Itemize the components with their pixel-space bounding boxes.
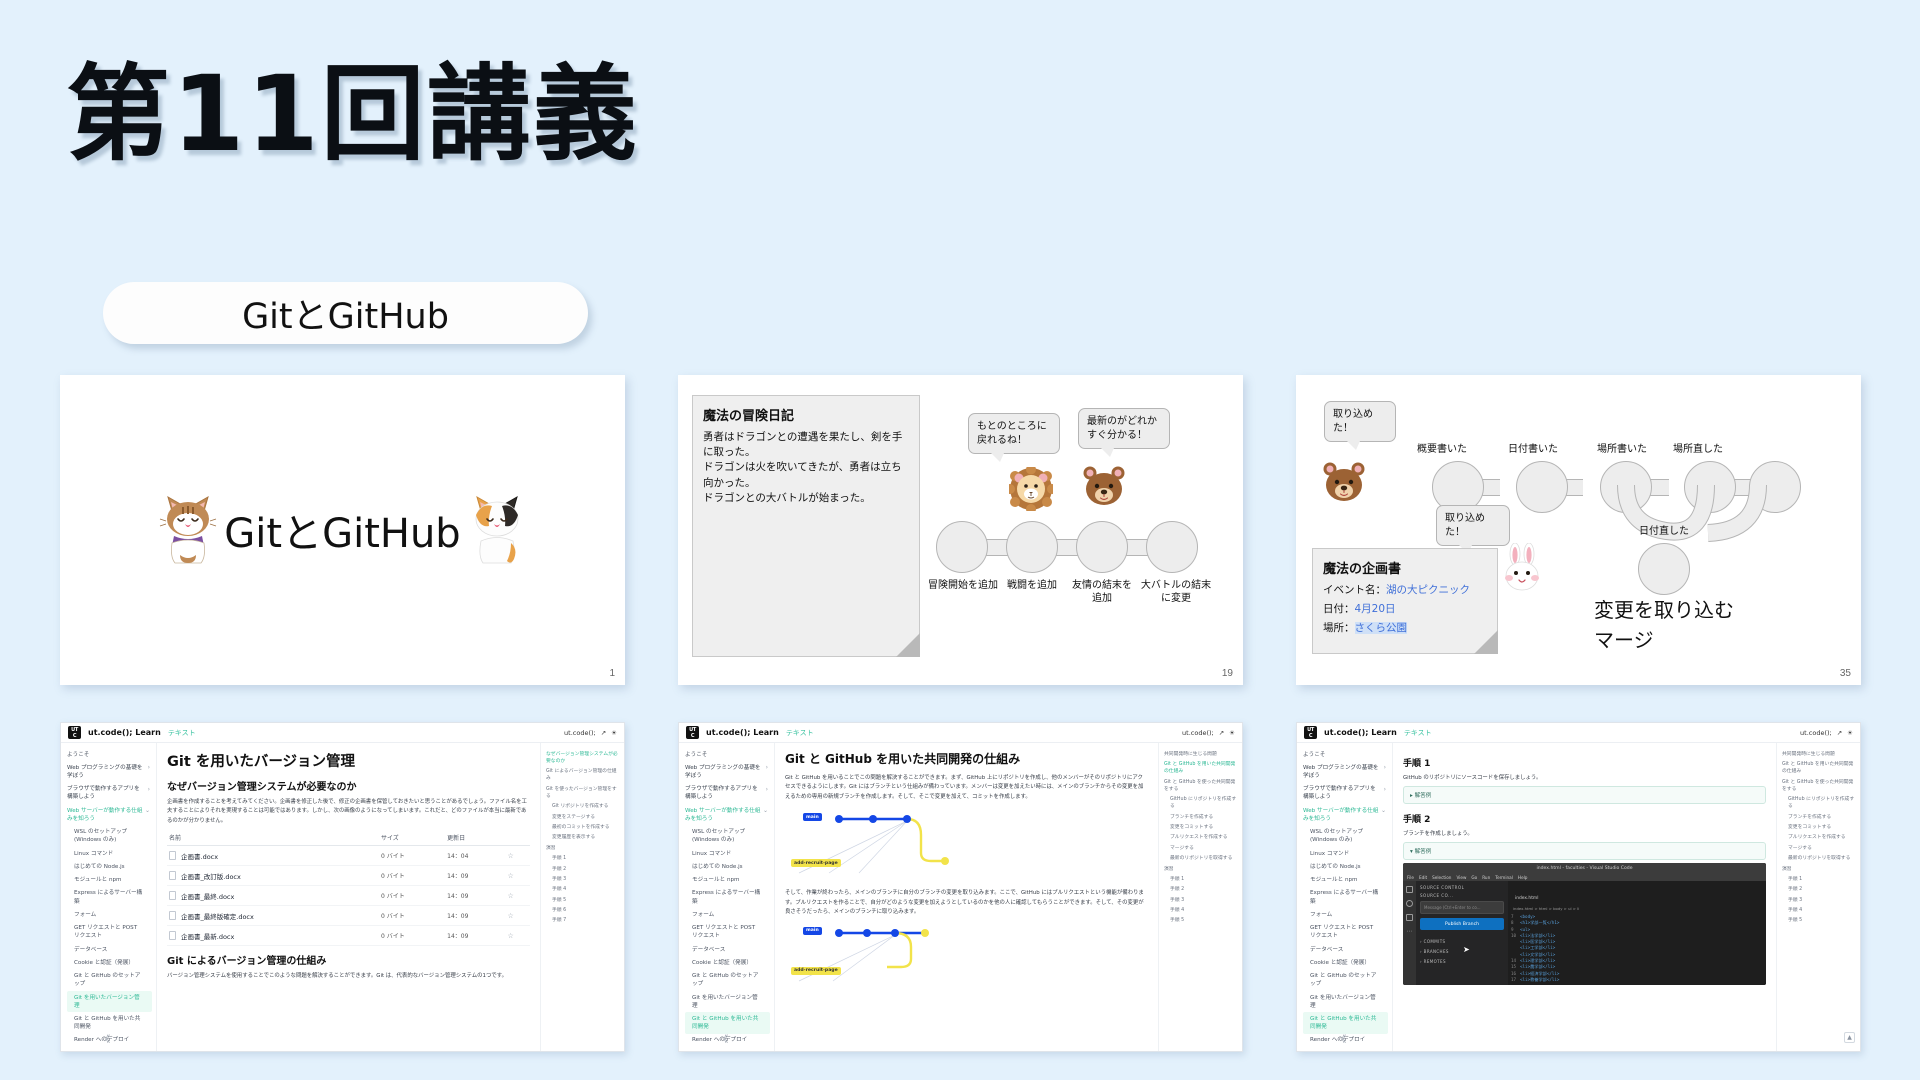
sidebar-item[interactable]: データベース xyxy=(67,943,152,956)
sidebar-item[interactable]: データベース xyxy=(685,943,770,956)
merge-title-line2: マージ xyxy=(1594,627,1654,653)
toc-item[interactable]: 共同開発時に生じる問題 xyxy=(1782,749,1855,759)
sidebar-item[interactable]: GET リクエストと POST リクエスト xyxy=(67,922,152,943)
cell-name: 企画書_最新.docx xyxy=(167,926,379,946)
section-heading-2: Git によるバージョン管理の仕組み xyxy=(167,952,530,967)
cell-star[interactable]: ☆ xyxy=(505,906,530,926)
toc-item[interactable]: 手順 7 xyxy=(546,916,619,926)
speech-bubble-1: 取り込めた！ xyxy=(1324,401,1396,442)
speech-bubble-2: 最新のがどれかすぐ分かる！ xyxy=(1078,408,1170,449)
note-line-2-value: 4月20日 xyxy=(1355,603,1396,615)
toc-item[interactable]: 手順 5 xyxy=(546,895,619,905)
chevron-right-icon[interactable]: › xyxy=(1384,786,1386,795)
site-brand: ut.code(); Learn xyxy=(706,728,779,737)
sidebar-item[interactable]: モジュールと npm xyxy=(685,874,770,887)
commit-node xyxy=(1516,461,1568,513)
note-title: 魔法の冒険日記 xyxy=(693,396,919,428)
toc-item[interactable]: 手順 2 xyxy=(546,864,619,874)
mouse-cursor-icon: ➤ xyxy=(1463,945,1470,954)
header-right: ut.code(); ↗ ☀ xyxy=(564,729,617,737)
vscode-screenshot: index.html - faculties - Visual Studio C… xyxy=(1403,863,1766,985)
note-line-3-label: 場所： xyxy=(1323,622,1355,634)
toc-item[interactable]: 手順 1 xyxy=(546,854,619,864)
sidebar-item[interactable]: Cookie と認証（発展） xyxy=(1303,956,1388,969)
toc-item[interactable]: GitHub にリポジトリを作成する xyxy=(1782,795,1855,813)
topic-pill: GitとGitHub xyxy=(103,282,588,344)
menu-item[interactable]: Help xyxy=(1518,875,1528,880)
accordion-label: 解答例 xyxy=(1415,849,1432,855)
sidebar-item[interactable]: はじめての Node.js xyxy=(685,860,770,873)
git-graph-2: main add-recruit-page xyxy=(785,923,1148,985)
slide-number: 1 xyxy=(609,668,615,679)
chevron-down-icon[interactable]: ⌄ xyxy=(145,807,150,816)
section-heading-1: なぜバージョン管理システムが必要なのか xyxy=(167,778,530,793)
rabbit-icon xyxy=(1500,543,1544,587)
note-line-2-label: 日付： xyxy=(1323,603,1355,615)
collapse-chevrons-icon[interactable]: 《 xyxy=(101,1032,110,1045)
file-icon xyxy=(169,931,176,940)
commit-label: 場所書いた xyxy=(1590,443,1654,456)
sidebar-item[interactable]: フォーム xyxy=(1303,908,1388,921)
toc-item[interactable]: 演習 xyxy=(1782,864,1855,874)
sidebar-item[interactable]: Linux コマンド xyxy=(685,847,770,860)
note-line-1: イベント名：湖の大ピクニック xyxy=(1313,581,1497,600)
cell-star[interactable]: ☆ xyxy=(505,926,530,946)
sidebar-item[interactable]: データベース xyxy=(1303,943,1388,956)
section-paragraph-2: バージョン管理システムを使用することでこのような問題を解決することができます。G… xyxy=(167,972,530,981)
files-icon[interactable] xyxy=(1406,886,1413,893)
toc-item[interactable]: 手順 3 xyxy=(546,874,619,884)
toc-item[interactable]: Git と GitHub を用いた共同開発の仕組み xyxy=(1164,759,1237,777)
shot3-body: ようこそWeb プログラミングの基礎を学ぼう›ブラウザで動作するアプリを構築しよ… xyxy=(1297,743,1860,1051)
speech-bubble-1: もとのところに戻れるね！ xyxy=(968,413,1060,454)
sidebar-item[interactable]: Web プログラミングの基礎を学ぼう› xyxy=(1303,761,1388,782)
slide-number: 19 xyxy=(1222,668,1233,679)
docs-sidebar[interactable]: ようこそWeb プログラミングの基礎を学ぼう›ブラウザで動作するアプリを構築しよ… xyxy=(679,743,775,1051)
step-1-title: 手順 1 xyxy=(1403,756,1766,769)
sidebar-item[interactable]: フォーム xyxy=(67,908,152,921)
header-right: ut.code(); ↗ ☀ xyxy=(1800,729,1853,737)
commit-node xyxy=(936,521,988,573)
docs-sidebar[interactable]: ようこそWeb プログラミングの基礎を学ぼう›ブラウザで動作するアプリを構築しよ… xyxy=(1297,743,1393,1051)
section-paragraph-1: 企画書を作成することを考えてみてください。企画書を修正した後で、修正の企画書を保… xyxy=(167,798,530,826)
menu-item[interactable]: Terminal xyxy=(1495,875,1513,880)
toc-list: 共同開発時に生じる問題Git と GitHub を用いた共同開発の仕組みGit … xyxy=(1782,749,1855,926)
vscode-sections: › COMMITS› BRANCHES› REMOTES xyxy=(1420,936,1504,966)
presentation-overview: 第11回講義 GitとGitHub xyxy=(0,0,1920,1080)
toc-list: 共同開発時に生じる問題Git と GitHub を用いた共同開発の仕組みGit … xyxy=(1164,749,1237,926)
file-icon xyxy=(169,871,176,880)
speech-bubble-2: 取り込めた！ xyxy=(1436,505,1510,546)
chevron-right-icon[interactable]: › xyxy=(148,764,150,773)
cat-tabby-icon xyxy=(158,493,218,567)
cell-size: 0 バイト xyxy=(379,846,445,866)
sidebar-item[interactable]: Web プログラミングの基礎を学ぼう› xyxy=(67,761,152,782)
commit-label: 場所直した xyxy=(1666,443,1730,456)
note-title: 魔法の企画書 xyxy=(1313,549,1497,581)
star-icon[interactable]: ☆ xyxy=(507,892,513,900)
step-2-title: 手順 2 xyxy=(1403,812,1766,825)
toc-item[interactable]: Git によるバージョン管理の仕組み xyxy=(546,767,619,785)
cell-date: 14：09 xyxy=(445,926,505,946)
chevron-right-icon[interactable]: › xyxy=(148,786,150,795)
toc-item[interactable]: Git と GitHub を使った共同開発をする xyxy=(1164,777,1237,795)
note-line-1-value: 湖の大ピクニック xyxy=(1386,584,1470,596)
toc-item[interactable]: 手順 2 xyxy=(1164,885,1237,895)
toc-item[interactable]: 手順 5 xyxy=(1164,916,1237,926)
repo-label[interactable]: SOURCE CO... xyxy=(1420,893,1504,898)
sidebar-item[interactable]: Git と GitHub のセットアップ xyxy=(685,970,770,991)
bear-icon xyxy=(1082,465,1126,509)
docs-main: Git と GitHub を用いた共同開発の仕組み Git と GitHub を… xyxy=(775,743,1158,1051)
site-brand-right: ut.code(); xyxy=(1182,729,1214,737)
toc-item[interactable]: 手順 2 xyxy=(1782,885,1855,895)
browser-screenshot-1[interactable]: UTC ut.code(); Learn テキスト ut.code(); ↗ ☀… xyxy=(60,722,625,1052)
toc-item[interactable]: Git と GitHub を用いた共同開発の仕組み xyxy=(1782,759,1855,777)
toc-item[interactable]: プルリクエストを作成する xyxy=(1782,833,1855,843)
branch-label-main: main xyxy=(803,813,822,821)
answer-accordion-2[interactable]: ▾ 解答例 xyxy=(1403,842,1766,860)
vscode-source-control-panel: SOURCE CONTROL SOURCE CO... Message (Ctr… xyxy=(1416,881,1508,985)
col-date: 更新日 xyxy=(445,830,505,846)
note-line-2: 日付：4月20日 xyxy=(1313,600,1497,619)
cell-date: 14：09 xyxy=(445,906,505,926)
external-link-icon[interactable]: ↗ xyxy=(1219,729,1224,737)
cell-star[interactable]: ☆ xyxy=(505,846,530,866)
commit-node xyxy=(1006,521,1058,573)
source-control-icon[interactable] xyxy=(1406,914,1413,921)
toc-list: なぜバージョン管理システムが必要なのかGit によるバージョン管理の仕組みGit… xyxy=(546,749,619,926)
source-control-section[interactable]: › REMOTES xyxy=(1420,956,1504,966)
slide-number: 35 xyxy=(1840,668,1851,679)
editor-code: 7<body>8<h1>学部一覧</h1>9<ul>10<li>法学部</li>… xyxy=(1511,914,1763,983)
sidebar-item[interactable]: ようこそ xyxy=(1303,748,1388,761)
branch-label-main-2: main xyxy=(803,927,822,935)
toc-item[interactable]: 手順 1 xyxy=(1164,874,1237,884)
slide-thumbnail-19[interactable]: 魔法の冒険日記 勇者はドラゴンとの遭遇を果たし、剣を手に取った。 ドラゴンは火を… xyxy=(678,375,1243,685)
site-brand: ut.code(); Learn xyxy=(1324,728,1397,737)
code-line: 17<li>教養学部</li> xyxy=(1511,977,1763,983)
sun-icon[interactable]: ☀ xyxy=(1229,729,1235,737)
commit-message-input[interactable]: Message (Ctrl+Enter to co... xyxy=(1420,901,1504,914)
sidebar-item[interactable]: WSL のセットアップ (Windows のみ) xyxy=(1303,826,1388,847)
star-icon[interactable]: ☆ xyxy=(507,872,513,880)
chevron-down-icon[interactable]: ⌄ xyxy=(763,807,768,816)
page-fold-corner xyxy=(896,633,920,657)
toc-item[interactable]: 手順 1 xyxy=(1782,874,1855,884)
toc-item[interactable]: 共同開発時に生じる問題 xyxy=(1164,749,1237,759)
toc-item[interactable]: 変更をステージする xyxy=(546,812,619,822)
sidebar-item[interactable]: Web サーバーが動作する仕組みを知ろう⌄ xyxy=(67,804,152,825)
docs-sidebar[interactable]: ようこそWeb プログラミングの基礎を学ぼう›ブラウザで動作するアプリを構築しよ… xyxy=(61,743,157,1051)
commit-label: 日付書いた xyxy=(1501,443,1565,456)
page-fold-corner xyxy=(1474,630,1498,654)
cell-size: 0 バイト xyxy=(379,906,445,926)
menu-item[interactable]: Selection xyxy=(1432,875,1451,880)
sidebar-item[interactable]: GET リクエストと POST リクエスト xyxy=(685,922,770,943)
table-row[interactable]: 企画書_最新.docx0 バイト14：09☆ xyxy=(167,926,530,946)
table-row[interactable]: 企画書_最終.docx0 バイト14：09☆ xyxy=(167,886,530,906)
toc-item[interactable]: 変更をコミットする xyxy=(1164,822,1237,832)
toc-item[interactable]: Git を使ったバージョン管理をする xyxy=(546,784,619,802)
shot1-body: ようこそWeb プログラミングの基礎を学ぼう›ブラウザで動作するアプリを構築しよ… xyxy=(61,743,624,1051)
sidebar-item[interactable]: Web サーバーが動作する仕組みを知ろう⌄ xyxy=(685,804,770,825)
utcode-logo-icon: UTC xyxy=(68,726,81,739)
sidebar-item[interactable]: Git と GitHub のセットアップ xyxy=(67,970,152,991)
cell-name: 企画書_最終版確定.docx xyxy=(167,906,379,926)
sidebar-item[interactable]: Express によるサーバー構築 xyxy=(685,887,770,908)
star-icon[interactable]: ☆ xyxy=(507,932,513,940)
collapse-chevrons-icon[interactable]: 《 xyxy=(719,1032,728,1045)
sidebar-item[interactable]: Express によるサーバー構築 xyxy=(1303,887,1388,908)
bear-icon xyxy=(1322,461,1366,505)
section-paragraph-2: そして、作業が終わったら、メインのブランチに自分のブランチの変更を取り込みます。… xyxy=(785,889,1148,917)
chevron-right-icon: ▸ xyxy=(1410,793,1413,799)
sidebar-item[interactable]: Git と GitHub を用いた共同開発 xyxy=(1303,1012,1388,1033)
cell-size: 0 バイト xyxy=(379,926,445,946)
toc-item[interactable]: 演習 xyxy=(1164,864,1237,874)
toc-item[interactable]: 最新のリポジトリを取得する xyxy=(1164,854,1237,864)
chevron-down-icon: ▾ xyxy=(1410,849,1413,855)
slide1-title: GitとGitHub xyxy=(224,501,460,559)
editor-tab[interactable]: index.html xyxy=(1511,894,1542,903)
article-title: Git と GitHub を用いた共同開発の仕組み xyxy=(785,750,1148,767)
toc-item[interactable]: なぜバージョン管理システムが必要なのか xyxy=(546,749,619,767)
cell-date: 14：04 xyxy=(445,846,505,866)
sidebar-list: ようこそWeb プログラミングの基礎を学ぼう›ブラウザで動作するアプリを構築しよ… xyxy=(1303,748,1388,1047)
file-rows: 企画書.docx0 バイト14：04☆企画書_改訂版.docx0 バイト14：0… xyxy=(167,846,530,946)
source-control-section[interactable]: › COMMITS xyxy=(1420,936,1504,946)
header-right: ut.code(); ↗ ☀ xyxy=(1182,729,1235,737)
site-brand: ut.code(); Learn xyxy=(88,728,161,737)
merge-title-line1: 変更を取り込む xyxy=(1594,597,1734,623)
nav-text-link[interactable]: テキスト xyxy=(1404,728,1432,738)
vscode-window-title: index.html - faculties - Visual Studio C… xyxy=(1403,863,1766,873)
toc-item[interactable]: ブランチを作成する xyxy=(1164,812,1237,822)
cell-star[interactable]: ☆ xyxy=(505,886,530,906)
site-brand-right: ut.code(); xyxy=(564,729,596,737)
article-title: Git を用いたバージョン管理 xyxy=(167,750,530,771)
external-link-icon[interactable]: ↗ xyxy=(1837,729,1842,737)
table-of-contents[interactable]: 共同開発時に生じる問題Git と GitHub を用いた共同開発の仕組みGit … xyxy=(1776,743,1860,1051)
topic-pill-label: GitとGitHub xyxy=(242,288,449,339)
toc-item[interactable]: Git と GitHub を使った共同開発をする xyxy=(1782,777,1855,795)
sidebar-item[interactable]: Cookie と認証（発展） xyxy=(685,956,770,969)
external-link-icon[interactable]: ↗ xyxy=(601,729,606,737)
file-icon xyxy=(169,911,176,920)
browser-screenshot-3[interactable]: UTC ut.code(); Learn テキスト ut.code(); ↗ ☀… xyxy=(1296,722,1861,1052)
browser-screenshot-2[interactable]: UTC ut.code(); Learn テキスト ut.code(); ↗ ☀… xyxy=(678,722,1243,1052)
menu-item[interactable]: Run xyxy=(1482,875,1490,880)
col-star xyxy=(505,830,530,846)
git-graph-1: main add-recruit-page xyxy=(785,807,1148,881)
adventure-diary-note: 魔法の冒険日記 勇者はドラゴンとの遭遇を果たし、剣を手に取った。 ドラゴンは火を… xyxy=(692,395,920,657)
col-size: サイズ xyxy=(379,830,445,846)
chevron-down-icon[interactable]: ⌄ xyxy=(1381,807,1386,816)
toc-item[interactable]: ブランチを作成する xyxy=(1782,812,1855,822)
shot2-body: ようこそWeb プログラミングの基礎を学ぼう›ブラウザで動作するアプリを構築しよ… xyxy=(679,743,1242,1051)
sidebar-item[interactable]: Git と GitHub のセットアップ xyxy=(1303,970,1388,991)
sidebar-item[interactable]: WSL のセットアップ (Windows のみ) xyxy=(685,826,770,847)
sidebar-item[interactable]: WSL のセットアップ (Windows のみ) xyxy=(67,826,152,847)
sidebar-item[interactable]: Cookie と認証（発展） xyxy=(67,956,152,969)
toc-item[interactable]: 最初のコミットを作成する xyxy=(546,822,619,832)
cell-name: 企画書.docx xyxy=(167,846,379,866)
col-name: 名前 xyxy=(167,830,379,846)
file-icon xyxy=(169,891,176,900)
toc-item[interactable]: マージする xyxy=(1164,843,1237,853)
sidebar-item[interactable]: Web サーバーが動作する仕組みを知ろう⌄ xyxy=(1303,804,1388,825)
commit-label: 日付直した xyxy=(1625,525,1703,538)
sidebar-list: ようこそWeb プログラミングの基礎を学ぼう›ブラウザで動作するアプリを構築しよ… xyxy=(685,748,770,1047)
sidebar-item[interactable]: はじめての Node.js xyxy=(1303,860,1388,873)
cell-star[interactable]: ☆ xyxy=(505,866,530,886)
toc-item[interactable]: 変更履歴を表示する xyxy=(546,833,619,843)
star-icon[interactable]: ☆ xyxy=(507,852,513,860)
sidebar-item[interactable]: Linux コマンド xyxy=(67,847,152,860)
toc-item[interactable]: マージする xyxy=(1782,843,1855,853)
chevron-right-icon[interactable]: › xyxy=(766,764,768,773)
collapse-chevrons-icon[interactable]: 《 xyxy=(1337,1032,1346,1045)
menu-item[interactable]: View xyxy=(1456,875,1466,880)
commit-node xyxy=(1076,521,1128,573)
publish-branch-button[interactable]: Publish Branch xyxy=(1420,918,1504,930)
nav-text-link[interactable]: テキスト xyxy=(168,728,196,738)
sidebar-item[interactable]: ようこそ xyxy=(685,748,770,761)
sun-icon[interactable]: ☀ xyxy=(611,729,617,737)
site-header: UTC ut.code(); Learn テキスト ut.code(); ↗ ☀ xyxy=(679,723,1242,743)
commit-node xyxy=(1146,521,1198,573)
cell-date: 14：09 xyxy=(445,866,505,886)
nav-text-link[interactable]: テキスト xyxy=(786,728,814,738)
sidebar-item[interactable]: Web プログラミングの基礎を学ぼう› xyxy=(685,761,770,782)
branch-label-feature: add-recruit-page xyxy=(791,859,841,867)
cat-calico-icon xyxy=(467,493,527,567)
lion-icon xyxy=(1009,467,1053,511)
sidebar-item[interactable]: ようこそ xyxy=(67,748,152,761)
vscode-menubar[interactable]: FileEditSelectionViewGoRunTerminalHelp xyxy=(1403,873,1766,881)
commit-node-merge xyxy=(1638,543,1690,595)
toc-item[interactable]: 手順 4 xyxy=(1782,905,1855,915)
note-body: 勇者はドラゴンとの遭遇を果たし、剣を手に取った。 ドラゴンは火を吹いてきたが、勇… xyxy=(693,428,919,508)
toc-item[interactable]: 変更をコミットする xyxy=(1782,822,1855,832)
branch-label-feature-2: add-recruit-page xyxy=(791,967,841,975)
menu-item[interactable]: File xyxy=(1407,875,1414,880)
sun-icon[interactable]: ☀ xyxy=(1847,729,1853,737)
slide1-content: GitとGitHub xyxy=(60,493,625,567)
toc-item[interactable]: Git リポジトリを作成する xyxy=(546,802,619,812)
table-header-row: 名前 サイズ 更新日 xyxy=(167,830,530,846)
slide-thumbnail-1[interactable]: GitとGitHub 1 xyxy=(60,375,625,685)
sidebar-item[interactable]: Git を用いたバージョン管理 xyxy=(67,991,152,1012)
site-header: UTC ut.code(); Learn テキスト ut.code(); ↗ ☀ xyxy=(61,723,624,743)
file-list-table: 名前 サイズ 更新日 企画書.docx0 バイト14：04☆企画書_改訂版.do… xyxy=(167,830,530,946)
source-control-section[interactable]: › BRANCHES xyxy=(1420,946,1504,956)
commit-label: 戦闘を追加 xyxy=(1000,579,1064,592)
scroll-to-top-button[interactable]: ▲ xyxy=(1844,1032,1855,1043)
page-title: 第11回講義 xyxy=(66,62,639,166)
star-icon[interactable]: ☆ xyxy=(507,912,513,920)
sidebar-item[interactable]: GET リクエストと POST リクエスト xyxy=(1303,922,1388,943)
commit-label: 概要書いた xyxy=(1410,443,1474,456)
utcode-logo-icon: UTC xyxy=(1304,726,1317,739)
table-row[interactable]: 企画書.docx0 バイト14：04☆ xyxy=(167,846,530,866)
sidebar-item[interactable]: フォーム xyxy=(685,908,770,921)
cell-size: 0 バイト xyxy=(379,886,445,906)
note-line-3: 場所：さくら公園 xyxy=(1313,619,1497,638)
file-icon xyxy=(169,851,176,860)
note-line-3-value: さくら公園 xyxy=(1355,622,1408,634)
vscode-main: ⋯ SOURCE CONTROL SOURCE CO... Message (C… xyxy=(1403,881,1766,985)
toc-item[interactable]: プルリクエストを作成する xyxy=(1164,833,1237,843)
sidebar-item[interactable]: ブラウザで動作するアプリを構築しよう› xyxy=(67,783,152,804)
more-icon[interactable]: ⋯ xyxy=(1407,928,1413,935)
utcode-logo-icon: UTC xyxy=(686,726,699,739)
table-row[interactable]: 企画書_改訂版.docx0 バイト14：09☆ xyxy=(167,866,530,886)
site-brand-right: ut.code(); xyxy=(1800,729,1832,737)
table-of-contents[interactable]: なぜバージョン管理システムが必要なのかGit によるバージョン管理の仕組みGit… xyxy=(540,743,624,1051)
menu-item[interactable]: Go xyxy=(1471,875,1477,880)
docs-main: 手順 1 GitHub のリポジトリにソースコードを保存しましょう。 ▸ 解答例… xyxy=(1393,743,1776,1051)
docs-main: Git を用いたバージョン管理 なぜバージョン管理システムが必要なのか 企画書を… xyxy=(157,743,540,1051)
note-line-1-label: イベント名： xyxy=(1323,584,1386,596)
sidebar-item[interactable]: Git と GitHub を用いた共同開発 xyxy=(685,1012,770,1033)
table-row[interactable]: 企画書_最終版確定.docx0 バイト14：09☆ xyxy=(167,906,530,926)
sidebar-item[interactable]: モジュールと npm xyxy=(1303,874,1388,887)
chevron-right-icon[interactable]: › xyxy=(1384,764,1386,773)
cell-date: 14：09 xyxy=(445,886,505,906)
cell-name: 企画書_改訂版.docx xyxy=(167,866,379,886)
sidebar-item[interactable]: Linux コマンド xyxy=(1303,847,1388,860)
toc-item[interactable]: 演習 xyxy=(546,843,619,853)
sidebar-item[interactable]: ブラウザで動作するアプリを構築しよう› xyxy=(1303,783,1388,804)
chevron-right-icon[interactable]: › xyxy=(766,786,768,795)
cell-name: 企画書_最終.docx xyxy=(167,886,379,906)
toc-item[interactable]: 手順 3 xyxy=(1782,895,1855,905)
vscode-activity-bar[interactable]: ⋯ xyxy=(1403,881,1416,985)
toc-item[interactable]: 手順 4 xyxy=(1164,905,1237,915)
toc-item[interactable]: 手順 6 xyxy=(546,905,619,915)
sidebar-item[interactable]: Git を用いたバージョン管理 xyxy=(685,991,770,1012)
sidebar-item[interactable]: Express によるサーバー構築 xyxy=(67,887,152,908)
commit-label: 友情の結末を追加 xyxy=(1069,579,1135,605)
panel-title: SOURCE CONTROL xyxy=(1420,885,1504,890)
slide-thumbnail-35[interactable]: 取り込めた！ 概要書いた 日付書いた 場所書いた 場所直した xyxy=(1296,375,1861,685)
toc-item[interactable]: 手順 5 xyxy=(1782,916,1855,926)
toc-item[interactable]: 最新のリポジトリを取得する xyxy=(1782,854,1855,864)
commit-label: 大バトルの結末に変更 xyxy=(1139,579,1213,605)
sidebar-item[interactable]: モジュールと npm xyxy=(67,874,152,887)
accordion-label: 解答例 xyxy=(1415,793,1432,799)
section-paragraph-1: Git と GitHub を用いることでこの問題を解決することができます。まず、… xyxy=(785,774,1148,802)
sidebar-item[interactable]: ブラウザで動作するアプリを構築しよう› xyxy=(685,783,770,804)
step-2-text: ブランチを作成しましょう。 xyxy=(1403,829,1766,837)
toc-item[interactable]: GitHub にリポジトリを作成する xyxy=(1164,795,1237,813)
cell-size: 0 バイト xyxy=(379,866,445,886)
vscode-editor: index.html index.html > html > body > ul… xyxy=(1508,881,1766,985)
table-of-contents[interactable]: 共同開発時に生じる問題Git と GitHub を用いた共同開発の仕組みGit … xyxy=(1158,743,1242,1051)
sidebar-list: ようこそWeb プログラミングの基礎を学ぼう›ブラウザで動作するアプリを構築しよ… xyxy=(67,748,152,1047)
commit-label: 冒険開始を追加 xyxy=(927,579,999,592)
toc-item[interactable]: 手順 3 xyxy=(1164,895,1237,905)
answer-accordion-1[interactable]: ▸ 解答例 xyxy=(1403,786,1766,804)
search-icon[interactable] xyxy=(1406,900,1413,907)
sidebar-item[interactable]: Git と GitHub を用いた共同開発 xyxy=(67,1012,152,1033)
sidebar-item[interactable]: Git を用いたバージョン管理 xyxy=(1303,991,1388,1012)
toc-item[interactable]: 手順 4 xyxy=(546,885,619,895)
menu-item[interactable]: Edit xyxy=(1419,875,1427,880)
sidebar-item[interactable]: はじめての Node.js xyxy=(67,860,152,873)
